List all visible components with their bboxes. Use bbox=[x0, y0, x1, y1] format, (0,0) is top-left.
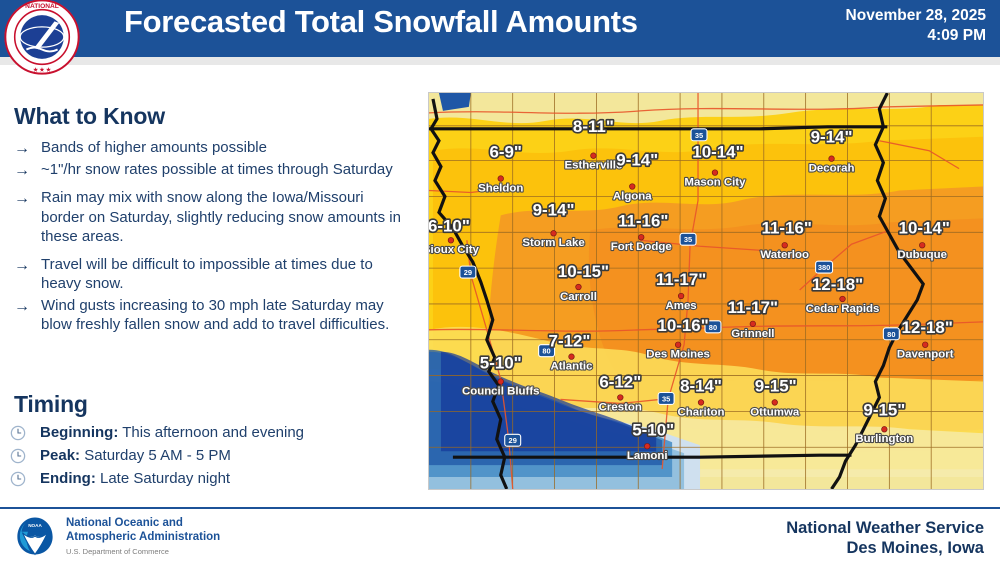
city-dot bbox=[629, 184, 635, 190]
timing-list: Beginning: This afternoon and evening Pe… bbox=[10, 421, 400, 490]
snowfall-forecast-graphic: Forecasted Total Snowfall Amounts Novemb… bbox=[0, 0, 1000, 562]
svg-text:35: 35 bbox=[662, 394, 670, 403]
page-title: Forecasted Total Snowfall Amounts bbox=[124, 4, 638, 40]
snowfall-amount-label: 10-16" bbox=[657, 316, 708, 335]
snowfall-amount-label: 12-18" bbox=[812, 275, 863, 294]
city-name-label: Lamoni bbox=[627, 450, 668, 462]
city-dot bbox=[712, 170, 718, 176]
list-item: → ~1"/hr snow rates possible at times th… bbox=[14, 160, 404, 180]
timing-text: Beginning: This afternoon and evening bbox=[40, 423, 304, 442]
list-item-text: ~1"/hr snow rates possible at times thro… bbox=[41, 160, 404, 180]
snowfall-amount-label: 9-15" bbox=[863, 400, 905, 419]
noaa-logo: NOAA bbox=[14, 515, 56, 557]
what-to-know-list: → Bands of higher amounts possible → ~1"… bbox=[14, 138, 404, 337]
arrow-right-icon: → bbox=[14, 160, 41, 180]
svg-text:29: 29 bbox=[509, 436, 517, 445]
snowfall-map[interactable]: 35 35 29 380 80 80 35 80 29 8-11"Estherv… bbox=[428, 92, 984, 490]
city-name-label: Fort Dodge bbox=[611, 241, 672, 253]
list-item: → Travel will be difficult to impossible… bbox=[14, 255, 404, 294]
city-name-label: Chariton bbox=[677, 406, 724, 418]
snowfall-amount-label: 10-14" bbox=[899, 218, 950, 237]
city-dot bbox=[882, 427, 888, 433]
snowfall-amount-label: 11-17" bbox=[728, 298, 778, 317]
list-item: Ending: Late Saturday night bbox=[10, 467, 400, 490]
snowfall-amount-label: 12-18" bbox=[902, 318, 953, 337]
city-name-label: Estherville bbox=[564, 160, 622, 172]
list-item: Beginning: This afternoon and evening bbox=[10, 421, 400, 444]
svg-text:35: 35 bbox=[695, 131, 703, 140]
clock-icon bbox=[10, 425, 40, 441]
city-dot bbox=[840, 296, 846, 302]
list-item: → Rain may mix with snow along the Iowa/… bbox=[14, 188, 404, 247]
timing-value: This afternoon and evening bbox=[122, 424, 304, 441]
city-name-label: Algona bbox=[613, 190, 652, 202]
svg-text:380: 380 bbox=[818, 263, 830, 272]
svg-text:★ ★ ★: ★ ★ ★ bbox=[32, 67, 51, 73]
list-item: → Bands of higher amounts possible bbox=[14, 138, 404, 158]
arrow-right-icon: → bbox=[14, 255, 41, 294]
snowfall-amount-label: 11-17" bbox=[656, 270, 706, 289]
snowfall-amount-label: 6-10" bbox=[429, 216, 470, 235]
snowfall-amount-label: 10-14" bbox=[692, 143, 743, 162]
list-item-text: Bands of higher amounts possible bbox=[41, 138, 404, 158]
svg-text:80: 80 bbox=[709, 323, 717, 332]
issued-date: November 28, 2025 bbox=[846, 6, 986, 26]
office-location: Des Moines, Iowa bbox=[786, 538, 984, 558]
shield-i35-north: 35 bbox=[691, 129, 707, 141]
arrow-right-icon: → bbox=[14, 138, 41, 158]
header-divider-strip bbox=[0, 57, 1000, 65]
issuing-office: National Weather Service Des Moines, Iow… bbox=[786, 518, 984, 558]
city-dot bbox=[644, 443, 650, 449]
city-name-label: Creston bbox=[599, 401, 642, 413]
svg-text:29: 29 bbox=[464, 268, 472, 277]
map-canvas[interactable]: 35 35 29 380 80 80 35 80 29 8-11"Estherv… bbox=[429, 93, 983, 489]
arrow-right-icon: → bbox=[14, 188, 41, 247]
snowfall-amount-label: 6-12" bbox=[599, 373, 641, 392]
svg-text:80: 80 bbox=[887, 330, 895, 339]
city-name-label: Decorah bbox=[809, 163, 855, 175]
city-name-label: Grinnell bbox=[731, 328, 774, 340]
noaa-agency-text: National Oceanic and Atmospheric Adminis… bbox=[66, 517, 220, 556]
timing-text: Peak: Saturday 5 AM - 5 PM bbox=[40, 446, 231, 465]
timing-value: Late Saturday night bbox=[100, 470, 230, 487]
snowfall-amount-label: 9-15" bbox=[755, 377, 797, 396]
clock-icon bbox=[10, 448, 40, 464]
city-name-label: Dubuque bbox=[897, 249, 947, 261]
snowfall-amount-label: 5-10" bbox=[480, 354, 522, 373]
city-name-label: Mason City bbox=[684, 177, 746, 189]
list-item-text: Rain may mix with snow along the Iowa/Mi… bbox=[41, 188, 404, 247]
city-dot bbox=[678, 293, 684, 299]
what-to-know-heading: What to Know bbox=[14, 103, 165, 130]
city-dot bbox=[551, 231, 557, 237]
city-dot bbox=[638, 234, 644, 240]
city-name-label: Waterloo bbox=[760, 249, 809, 261]
issued-datetime: November 28, 2025 4:09 PM bbox=[846, 6, 986, 46]
timing-value: Saturday 5 AM - 5 PM bbox=[84, 447, 231, 464]
city-name-label: Atlantic bbox=[550, 361, 593, 373]
shield-i35-south: 35 bbox=[658, 392, 674, 404]
snowfall-amount-label: 9-14" bbox=[616, 151, 658, 170]
city-dot bbox=[919, 242, 925, 248]
city-dot bbox=[698, 400, 704, 406]
timing-text: Ending: Late Saturday night bbox=[40, 469, 230, 488]
list-item-text: Wind gusts increasing to 30 mph late Sat… bbox=[41, 296, 404, 335]
office-agency: National Weather Service bbox=[786, 518, 984, 538]
shield-i35-mid: 35 bbox=[680, 233, 696, 245]
list-item-text: Travel will be difficult to impossible a… bbox=[41, 255, 404, 294]
list-item: Peak: Saturday 5 AM - 5 PM bbox=[10, 444, 400, 467]
issued-time: 4:09 PM bbox=[846, 26, 986, 46]
timing-heading: Timing bbox=[14, 391, 88, 418]
shield-i29-north: 29 bbox=[460, 266, 476, 278]
shield-i80-east: 80 bbox=[883, 328, 899, 340]
city-name-label: Des Moines bbox=[646, 349, 710, 361]
snowfall-amount-label: 9-14" bbox=[533, 200, 575, 219]
city-dot bbox=[591, 153, 597, 159]
city-name-label: Sheldon bbox=[478, 183, 523, 195]
snowfall-amount-label: 9-14" bbox=[811, 128, 853, 147]
city-dot bbox=[772, 400, 778, 406]
snowfall-amount-label: 8-14" bbox=[680, 377, 722, 396]
noaa-line-1: National Oceanic and bbox=[66, 517, 220, 531]
city-dot bbox=[498, 176, 504, 182]
timing-label: Ending: bbox=[40, 470, 96, 487]
snowfall-amount-label: 7-12" bbox=[549, 332, 591, 351]
city-dot bbox=[618, 395, 624, 401]
snowfall-amount-label: 5-10" bbox=[632, 420, 674, 439]
city-name-label: Carroll bbox=[560, 291, 597, 303]
city-name-label: Sioux City bbox=[429, 244, 480, 256]
clock-icon bbox=[10, 471, 40, 487]
snowfall-amount-label: 10-15" bbox=[558, 262, 609, 281]
city-name-label: Burlington bbox=[855, 433, 913, 445]
snowfall-amount-label: 6-9" bbox=[489, 143, 521, 162]
left-info-panel: What to Know → Bands of higher amounts p… bbox=[0, 66, 420, 506]
arrow-right-icon: → bbox=[14, 296, 41, 335]
svg-text:NATIONAL: NATIONAL bbox=[25, 3, 59, 10]
timing-label: Beginning: bbox=[40, 424, 118, 441]
city-dot bbox=[922, 342, 928, 348]
city-name-label: Davenport bbox=[897, 349, 954, 361]
noaa-line-2: Atmospheric Administration bbox=[66, 531, 220, 545]
list-item: → Wind gusts increasing to 30 mph late S… bbox=[14, 296, 404, 335]
city-dot bbox=[782, 242, 788, 248]
city-name-label: Storm Lake bbox=[522, 237, 584, 249]
svg-text:35: 35 bbox=[684, 235, 692, 244]
snowfall-amount-label: 11-16" bbox=[762, 218, 812, 237]
city-dot bbox=[675, 342, 681, 348]
shield-i29-south: 29 bbox=[505, 434, 521, 446]
header-bar: Forecasted Total Snowfall Amounts Novemb… bbox=[0, 0, 1000, 57]
footer-bar: NOAA National Oceanic and Atmospheric Ad… bbox=[0, 509, 1000, 562]
noaa-wordmark-text: NOAA bbox=[28, 523, 42, 528]
nws-roundel-logo: NATIONAL ★ ★ ★ bbox=[3, 0, 81, 76]
city-name-label: Council Bluffs bbox=[462, 385, 540, 397]
city-dot bbox=[576, 284, 582, 290]
shield-i380: 380 bbox=[816, 261, 833, 273]
snowfall-amount-label: 11-16" bbox=[618, 211, 668, 230]
city-dot bbox=[569, 354, 575, 360]
city-dot bbox=[448, 237, 454, 243]
city-dot bbox=[750, 321, 756, 327]
snowfall-amount-label: 8-11" bbox=[573, 117, 614, 136]
city-dot bbox=[498, 379, 504, 385]
noaa-department-line: U.S. Department of Commerce bbox=[66, 547, 220, 556]
city-name-label: Ames bbox=[666, 300, 697, 312]
timing-label: Peak: bbox=[40, 447, 80, 464]
city-name-label: Ottumwa bbox=[750, 406, 800, 418]
city-name-label: Cedar Rapids bbox=[806, 303, 880, 315]
city-dot bbox=[829, 156, 835, 162]
